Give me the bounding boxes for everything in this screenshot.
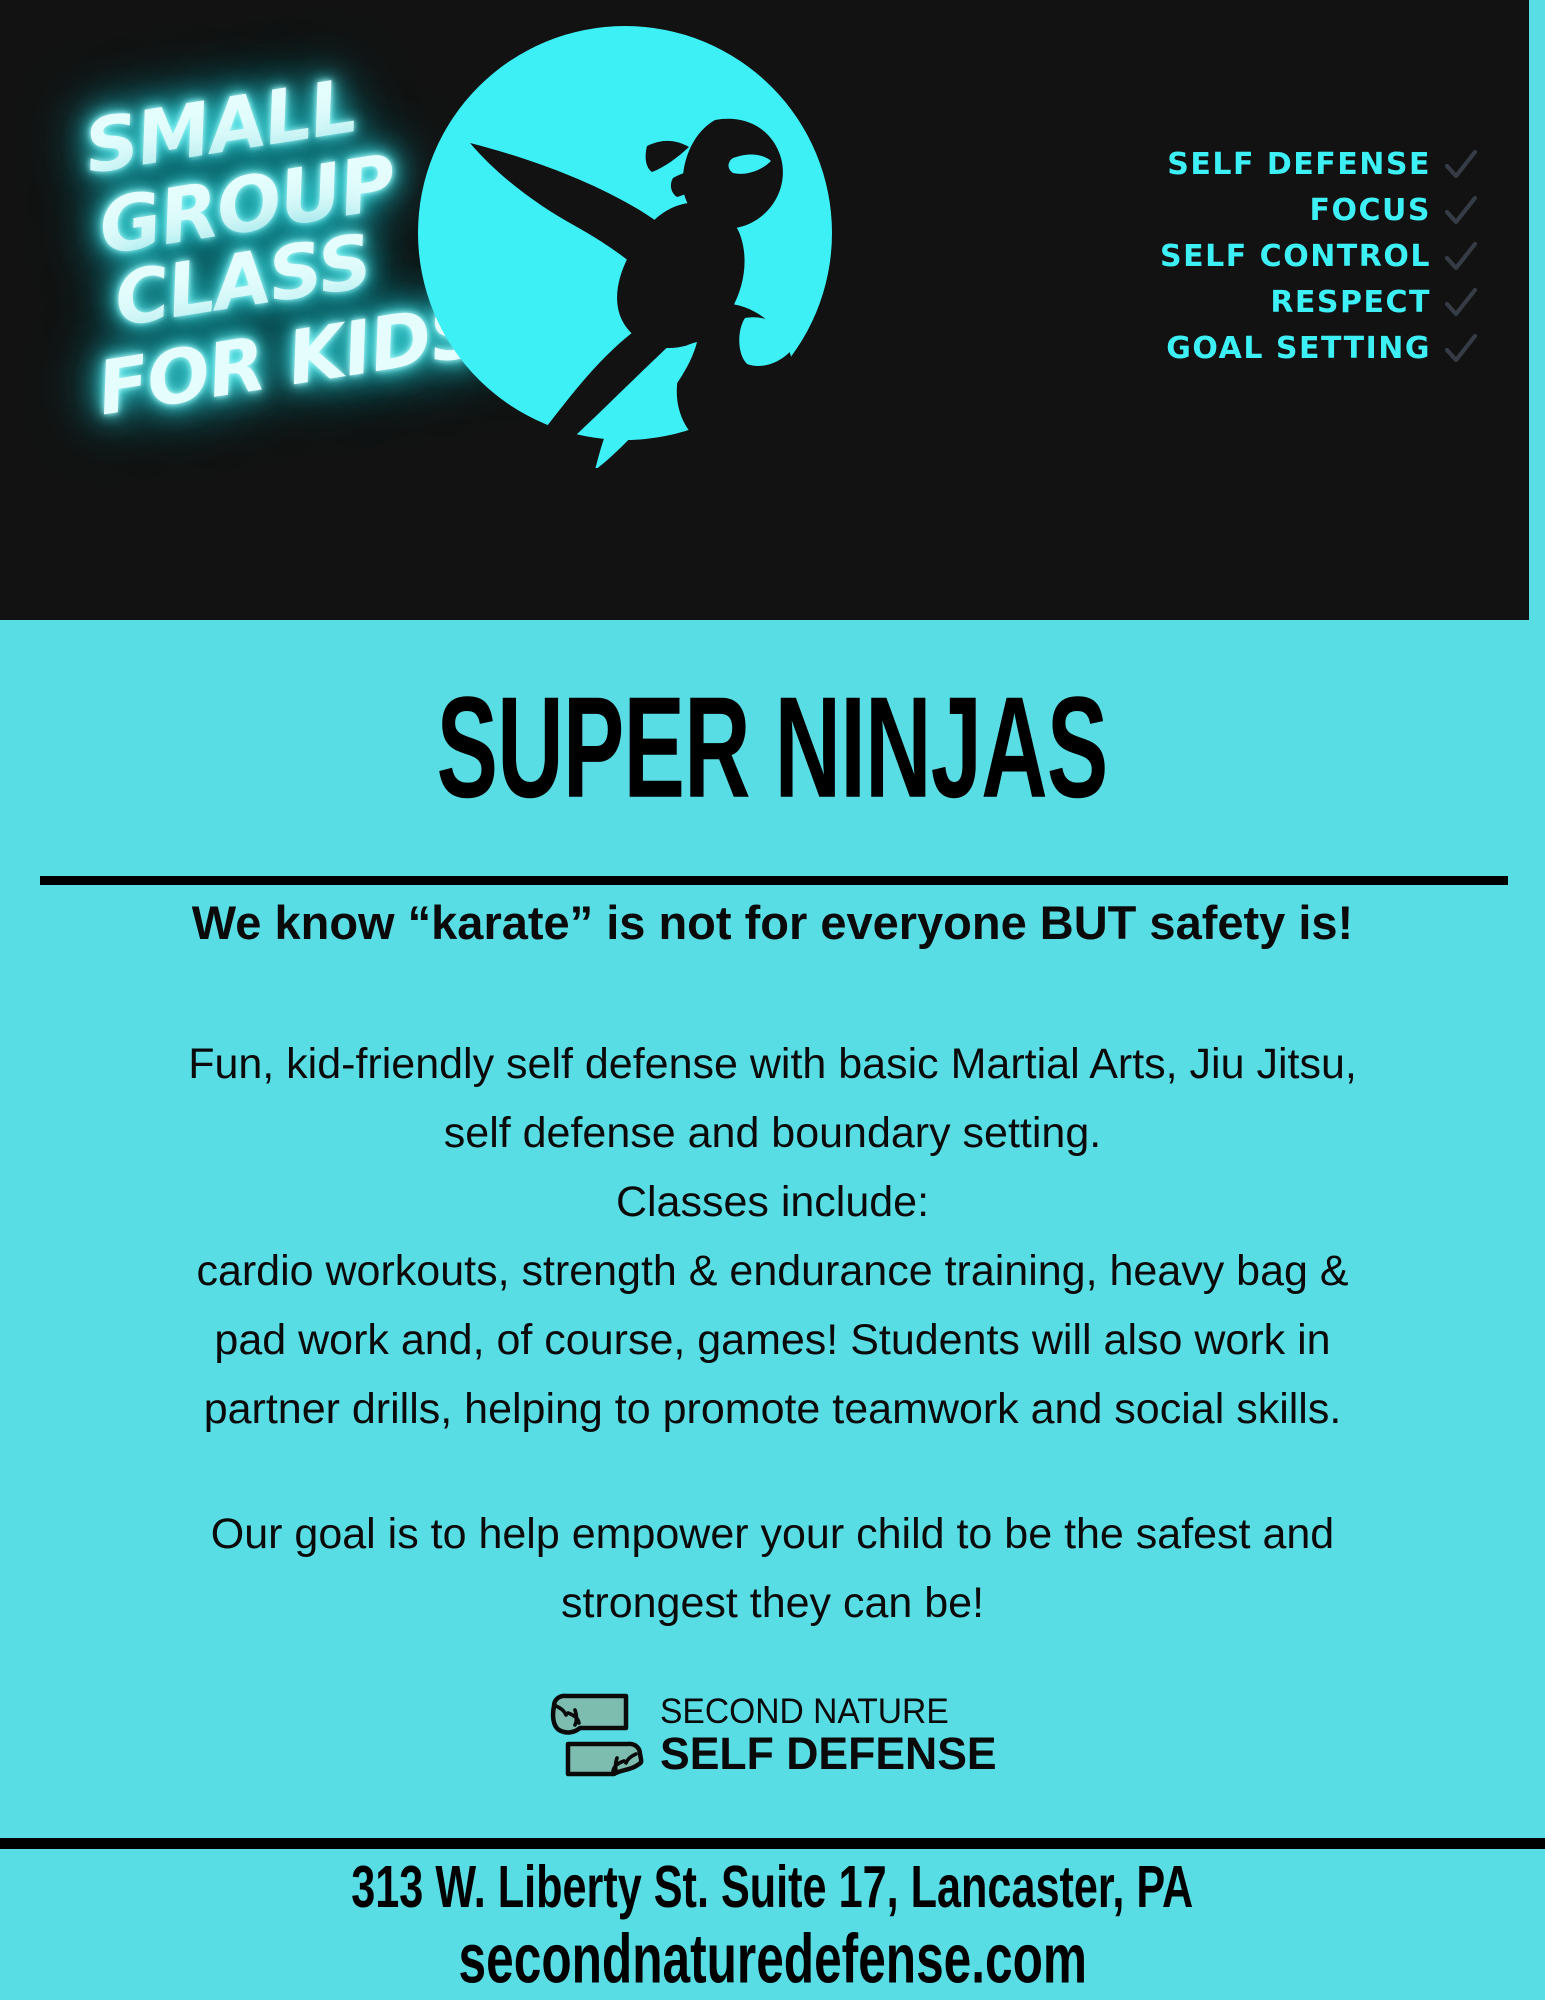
flyer-page: SMALL GROUP CLASS FOR KIDS! — [0, 0, 1545, 2000]
ninja-silhouette-icon — [415, 18, 835, 468]
brand-logo: SECOND NATURE SELF DEFENSE — [0, 1686, 1545, 1783]
header-right-accent-strip — [1529, 0, 1537, 620]
body-line-4: cardio workouts, strength & endurance tr… — [70, 1237, 1475, 1306]
glow-headline: SMALL GROUP CLASS FOR KIDS! — [62, 78, 462, 408]
checklist-label: GOAL SETTING — [1166, 334, 1431, 364]
checklist-item-self-defense: SELF DEFENSE — [1160, 145, 1479, 185]
body-line-8: strongest they can be! — [70, 1569, 1475, 1638]
check-icon — [1443, 147, 1479, 183]
body-line-1: Fun, kid-friendly self defense with basi… — [70, 1030, 1475, 1099]
checklist-item-goal-setting: GOAL SETTING — [1160, 329, 1479, 369]
body-line-3: Classes include: — [70, 1168, 1475, 1237]
brand-name-primary: SECOND NATURE — [660, 1694, 986, 1729]
tagline: We know “karate” is not for everyone BUT… — [0, 895, 1545, 950]
body-line-6: partner drills, helping to promote teamw… — [70, 1375, 1475, 1444]
checklist-label: RESPECT — [1270, 288, 1431, 318]
title-band: SUPER NINJAS — [0, 620, 1545, 875]
check-icon — [1443, 285, 1479, 321]
footer-website[interactable]: secondnaturedefense.com — [458, 1920, 1086, 2000]
check-icon — [1443, 193, 1479, 229]
body-line-5: pad work and, of course, games! Students… — [70, 1306, 1475, 1375]
footer: 313 W. Liberty St. Suite 17, Lancaster, … — [0, 1856, 1545, 1995]
footer-divider — [0, 1838, 1545, 1849]
brand-logo-text: SECOND NATURE SELF DEFENSE — [660, 1694, 1000, 1776]
title-divider — [40, 876, 1508, 885]
checklist-label: SELF CONTROL — [1160, 242, 1431, 272]
paragraph-spacer — [70, 1444, 1475, 1500]
checklist-item-focus: FOCUS — [1160, 191, 1479, 231]
footer-address: 313 W. Liberty St. Suite 17, Lancaster, … — [352, 1853, 1194, 1921]
brand-logo-inner: SECOND NATURE SELF DEFENSE — [544, 1686, 1000, 1783]
checklist-item-respect: RESPECT — [1160, 283, 1479, 323]
check-icon — [1443, 331, 1479, 367]
checklist-label: FOCUS — [1310, 196, 1431, 226]
brand-name-secondary: SELF DEFENSE — [660, 1731, 997, 1776]
header-band: SMALL GROUP CLASS FOR KIDS! — [0, 0, 1537, 620]
checklist-item-self-control: SELF CONTROL — [1160, 237, 1479, 277]
body-copy: Fun, kid-friendly self defense with basi… — [70, 1030, 1475, 1638]
body-line-7: Our goal is to help empower your child t… — [70, 1500, 1475, 1569]
two-fists-icon — [544, 1686, 652, 1783]
checklist-label: SELF DEFENSE — [1167, 150, 1431, 180]
body-line-2: self defense and boundary setting. — [70, 1099, 1475, 1168]
benefits-checklist: SELF DEFENSE FOCUS SELF CONTROL RESPECT — [1160, 145, 1479, 375]
check-icon — [1443, 239, 1479, 275]
page-title: SUPER NINJAS — [437, 676, 1108, 820]
